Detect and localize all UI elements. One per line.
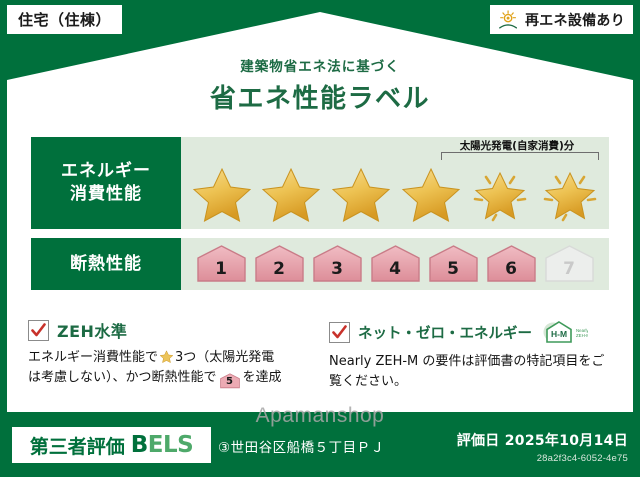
checkbox-checked-icon: [28, 320, 49, 341]
insulation-level-house: 1: [195, 244, 248, 284]
insulation-level-house: 6: [485, 244, 538, 284]
star-rating: [187, 163, 605, 225]
insulation-level-house: 5: [427, 244, 480, 284]
checkbox-checked-icon: [329, 322, 350, 343]
insulation-level-house: 3: [311, 244, 364, 284]
bels-logo: 第三者評価 BELS: [12, 427, 211, 463]
net-zero-energy-heading: ネット・ゼロ・エネルギー H-M Nearly ZEH-M: [329, 318, 612, 346]
zeh-body-part2: 3つ（太陽光発電: [175, 350, 274, 365]
net-zero-energy-body: Nearly ZEH-M の要件は評価書の特記項目をご覧ください。: [329, 352, 612, 392]
star-icon-solar: [537, 163, 603, 225]
sun-icon: [498, 10, 520, 30]
energy-performance-label: 住宅（住棟） 再エネ設備あり 建築物省エネ法に基づく 省エネ性能ラベル: [0, 0, 640, 477]
evaluation-date: 評価日 2025年10月14日: [457, 430, 628, 450]
title-main: 省エネ性能ラベル: [0, 78, 640, 115]
zeh-standard-body: エネルギー消費性能で3つ（太陽光発電 は考慮しない）、かつ断熱性能で5を達成: [28, 348, 311, 389]
building-type-badge: 住宅（住棟）: [7, 5, 122, 34]
insulation-level-number: 7: [563, 259, 575, 284]
zeh-statements: ZEH水準 エネルギー消費性能で3つ（太陽光発電 は考慮しない）、かつ断熱性能で…: [28, 318, 612, 392]
insulation-level-house-inactive: 7: [543, 244, 596, 284]
insulation-house-inline: 5: [219, 373, 241, 389]
zeh-body-part4: を達成: [243, 370, 282, 385]
star-icon: [328, 163, 394, 225]
zeh-standard-block: ZEH水準 エネルギー消費性能で3つ（太陽光発電 は考慮しない）、かつ断熱性能で…: [28, 318, 311, 392]
zeh-body-part3: は考慮しない）、かつ断熱性能で: [28, 370, 217, 385]
insulation-level-number: 6: [505, 259, 517, 284]
insulation-level-number: 3: [331, 259, 343, 284]
star-icon: [189, 163, 255, 225]
zeh-m-logo-icon: H-M Nearly ZEH-M: [542, 318, 588, 346]
insulation-label-text: 断熱性能: [70, 253, 142, 276]
star-icon-solar: [467, 163, 533, 225]
energy-label-line1: エネルギー: [61, 160, 151, 183]
svg-text:H-M: H-M: [551, 329, 567, 339]
star-icon: [258, 163, 324, 225]
net-zero-energy-title: ネット・ゼロ・エネルギー: [358, 322, 532, 343]
star-icon: [398, 163, 464, 225]
evaluation-id: 28a2f3c4-6052-4e75: [457, 453, 628, 464]
title-subtitle: 建築物省エネ法に基づく: [0, 55, 640, 75]
zeh-standard-heading: ZEH水準: [28, 318, 311, 342]
zeh-standard-title: ZEH水準: [57, 318, 127, 342]
zeh-body-part1: エネルギー消費性能で: [28, 350, 158, 365]
bels-jp-text: 第三者評価: [30, 432, 125, 459]
solar-annotation-text: 太陽光発電(自家消費)分: [433, 138, 601, 153]
bels-en-text: BELS: [131, 432, 193, 458]
energy-rating-panel: 太陽光発電(自家消費)分: [181, 137, 609, 229]
insulation-performance-row: 断熱性能 1 2 3: [31, 238, 609, 290]
property-name: ③世田谷区船橋５丁目ＰＪ: [218, 436, 385, 456]
evaluation-info: 評価日 2025年10月14日 28a2f3c4-6052-4e75: [457, 430, 628, 464]
label-title: 建築物省エネ法に基づく 省エネ性能ラベル: [0, 55, 640, 115]
net-zero-energy-block: ネット・ゼロ・エネルギー H-M Nearly ZEH-M Nearly ZEH…: [329, 318, 612, 392]
watermark: Apamanshop: [0, 404, 640, 428]
energy-performance-row: エネルギー 消費性能 太陽光発電(自家消費)分: [31, 137, 609, 229]
star-icon-inline: [159, 349, 174, 364]
inline-house-level: 5: [219, 373, 241, 390]
insulation-level-number: 2: [273, 259, 285, 284]
insulation-rating-panel: 1 2 3 4 5: [181, 238, 609, 290]
energy-label-line2: 消費性能: [70, 183, 142, 206]
bels-letters-els: ELS: [148, 432, 193, 458]
performance-rows: エネルギー 消費性能 太陽光発電(自家消費)分: [31, 137, 609, 299]
insulation-level-house: 4: [369, 244, 422, 284]
insulation-level-number: 4: [389, 259, 401, 284]
insulation-performance-label: 断熱性能: [31, 238, 181, 290]
renewable-equipment-badge: 再エネ設備あり: [490, 5, 633, 34]
building-type-text: 住宅（住棟）: [18, 9, 111, 30]
insulation-level-scale: 1 2 3 4 5: [181, 238, 609, 290]
svg-text:ZEH-M: ZEH-M: [576, 333, 588, 338]
insulation-level-number: 1: [215, 259, 227, 284]
insulation-level-number: 5: [447, 259, 459, 284]
bels-letter-b: B: [131, 432, 148, 458]
insulation-level-house: 2: [253, 244, 306, 284]
renewable-badge-text: 再エネ設備あり: [525, 10, 625, 30]
energy-performance-label: エネルギー 消費性能: [31, 137, 181, 229]
solar-bracket: [441, 152, 599, 160]
